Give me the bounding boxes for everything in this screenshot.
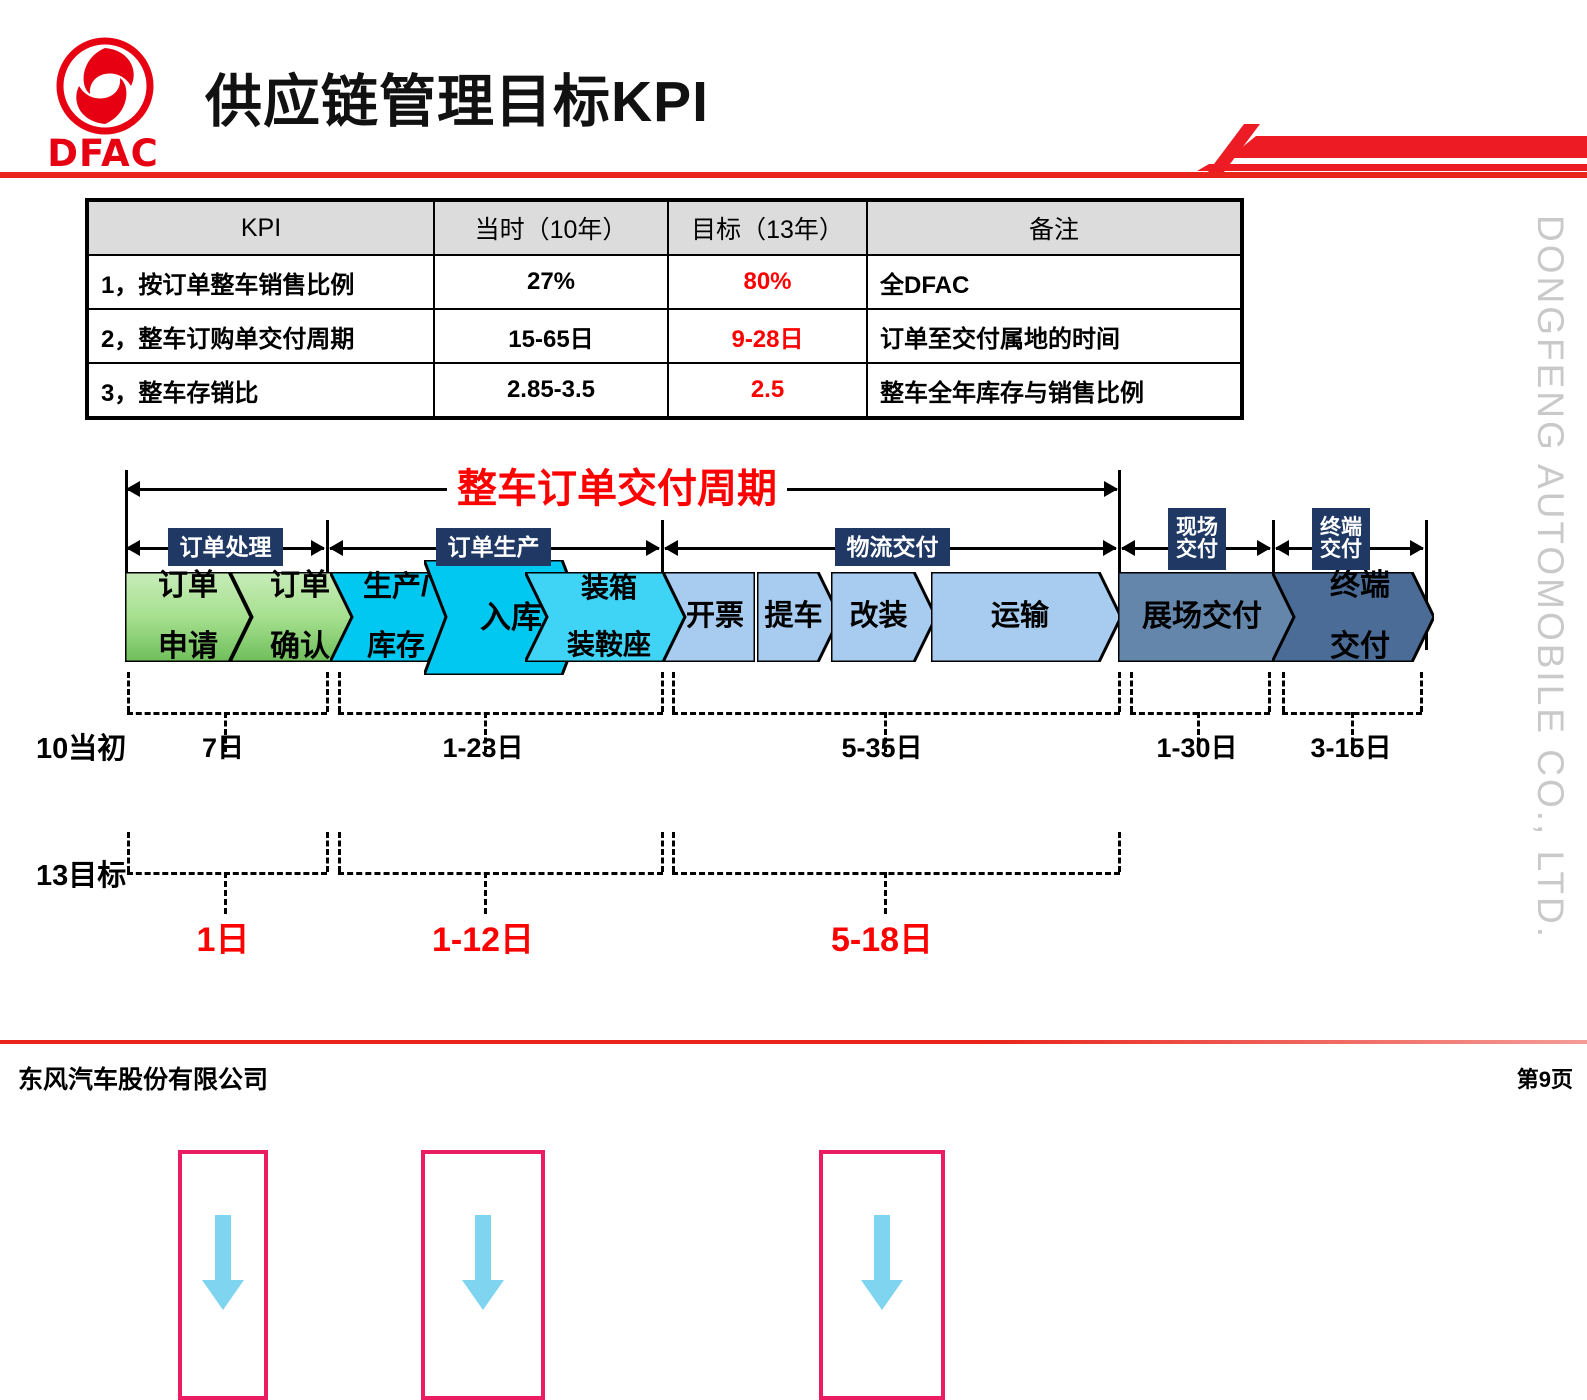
footer-company-name: 东风汽车股份有限公司 xyxy=(18,1060,268,1096)
step-showroom-delivery[interactable]: 展场交付 xyxy=(1118,572,1296,662)
brace-drop xyxy=(884,872,887,914)
table-row: 2，整车订购单交付周期 15-65日 9-28日 订单至交付属地的时间 xyxy=(87,309,1242,363)
cell-now: 27% xyxy=(434,255,668,309)
footer-divider xyxy=(0,1040,1587,1044)
brace-tick xyxy=(338,672,341,712)
step-packing-saddle[interactable]: 装箱 装鞍座 xyxy=(525,572,685,662)
improvement-arrow-icon xyxy=(202,1215,244,1310)
col-header-note: 备注 xyxy=(867,200,1242,255)
col-header-now: 当时（10年） xyxy=(434,200,668,255)
step-modification[interactable]: 改装 xyxy=(831,572,936,662)
phase-pill-terminal-delivery: 终端 交付 xyxy=(1312,508,1370,570)
step-label-line2: 申请 xyxy=(158,632,218,663)
phase-label: 订单生产 xyxy=(448,535,540,559)
cell-goal: 80% xyxy=(668,255,867,309)
header-swoosh-band xyxy=(1229,136,1587,158)
table-header-row: KPI 当时（10年） 目标（13年） 备注 xyxy=(87,200,1242,255)
target-value-order-production: 1-12日 xyxy=(421,912,545,961)
baseline-value-order-processing: 7日 xyxy=(178,726,268,765)
footer-page-number: 第9页 xyxy=(1517,1062,1573,1094)
header-swoosh-thin xyxy=(1197,164,1587,171)
step-label-line1: 订单 xyxy=(158,571,218,602)
brace-tick xyxy=(661,832,664,872)
step-label-line1: 提车 xyxy=(764,602,822,632)
brace-line xyxy=(338,712,663,715)
step-pickup[interactable]: 提车 xyxy=(757,572,840,662)
step-label-line1: 入库 xyxy=(480,602,542,634)
step-label-line1: 生产/ xyxy=(363,573,429,603)
step-label-line2: 确认 xyxy=(270,632,330,663)
page-title: 供应链管理目标KPI xyxy=(205,56,709,138)
step-label-line1: 装箱 xyxy=(567,574,651,603)
cell-goal: 2.5 xyxy=(668,363,867,418)
phase-pill-order-processing: 订单处理 xyxy=(168,528,283,566)
brace-line xyxy=(1130,712,1270,715)
phase-pill-order-production: 订单生产 xyxy=(436,528,551,566)
brace-line xyxy=(127,872,327,875)
phase-label-line2: 交付 xyxy=(1320,539,1362,561)
step-label-line1: 开票 xyxy=(686,602,744,632)
step-label-line1: 订单 xyxy=(270,571,330,602)
cell-now: 2.85-3.5 xyxy=(434,363,668,418)
cell-note: 全DFAC xyxy=(867,255,1242,309)
step-label-line1: 改装 xyxy=(849,602,907,632)
row-label-baseline: 10当初 xyxy=(36,725,126,767)
brace-tick xyxy=(326,672,329,712)
cell-note: 整车全年库存与销售比例 xyxy=(867,363,1242,418)
cell-kpi: 1，按订单整车销售比例 xyxy=(87,255,434,309)
phase-pill-logistics-delivery: 物流交付 xyxy=(835,528,950,566)
table-row: 1，按订单整车销售比例 27% 80% 全DFAC xyxy=(87,255,1242,309)
brace-tick xyxy=(661,672,664,712)
sidebar-vertical-brand-text: DONGFENG AUTOMOBILE CO., LTD. xyxy=(1521,215,1571,1005)
phase-pill-onsite-delivery: 现场 交付 xyxy=(1168,508,1226,570)
baseline-value-onsite-delivery: 1-30日 xyxy=(1134,726,1260,765)
phase-label-line2: 交付 xyxy=(1176,539,1218,561)
page-header: DFAC 供应链管理目标KPI xyxy=(0,0,1587,175)
improvement-arrow-icon xyxy=(462,1215,504,1310)
logo-wordmark: DFAC xyxy=(33,136,173,172)
phase-label: 物流交付 xyxy=(847,535,939,559)
dongfeng-emblem-icon xyxy=(55,36,155,136)
step-transport[interactable]: 运输 xyxy=(931,572,1121,662)
baseline-value-order-production: 1-23日 xyxy=(421,726,545,765)
step-label-line1: 展场交付 xyxy=(1142,602,1262,633)
step-label-line2: 库存 xyxy=(363,632,429,662)
brace-line xyxy=(127,712,327,715)
brace-tick xyxy=(1130,672,1133,712)
baseline-value-terminal-delivery: 3-15日 xyxy=(1288,726,1414,765)
brace-tick xyxy=(326,832,329,872)
step-label-line1: 运输 xyxy=(991,602,1049,632)
baseline-value-logistics-delivery: 5-35日 xyxy=(819,726,945,765)
brace-line xyxy=(672,872,1120,875)
col-header-kpi: KPI xyxy=(87,200,434,255)
col-header-goal: 目标（13年） xyxy=(668,200,867,255)
step-label-line2: 装鞍座 xyxy=(567,631,651,660)
brace-tick xyxy=(672,832,675,872)
kpi-table: KPI 当时（10年） 目标（13年） 备注 1，按订单整车销售比例 27% 8… xyxy=(85,198,1244,420)
brace-tick xyxy=(1420,672,1423,712)
cell-now: 15-65日 xyxy=(434,309,668,363)
brace-tick xyxy=(672,672,675,712)
table-row: 3，整车存销比 2.85-3.5 2.5 整车全年库存与销售比例 xyxy=(87,363,1242,418)
step-invoice[interactable]: 开票 xyxy=(663,572,755,662)
step-label-line1: 终端 xyxy=(1330,571,1390,602)
phase-label-line1: 终端 xyxy=(1320,517,1362,539)
brace-tick xyxy=(127,672,130,712)
improvement-arrow-icon xyxy=(861,1215,903,1310)
process-timeline-diagram: 整车订单交付周期 订单处理 订单生产 物流交付 现场 交付 终端 交付 订单 申… xyxy=(0,440,1587,1000)
cell-kpi: 3，整车存销比 xyxy=(87,363,434,418)
brace-drop xyxy=(484,872,487,914)
cell-kpi: 2，整车订购单交付周期 xyxy=(87,309,434,363)
cycle-title: 整车订单交付周期 xyxy=(447,456,787,514)
target-value-logistics-delivery: 5-18日 xyxy=(819,912,945,961)
row-label-target: 13目标 xyxy=(36,852,126,894)
dfac-logo: DFAC xyxy=(33,36,173,170)
step-terminal-delivery[interactable]: 终端 交付 xyxy=(1272,572,1434,662)
phase-label: 订单处理 xyxy=(180,535,272,559)
phase-label-line1: 现场 xyxy=(1176,517,1218,539)
brace-tick xyxy=(338,832,341,872)
brace-tick xyxy=(1118,672,1121,712)
brace-tick xyxy=(1268,672,1271,712)
cell-goal: 9-28日 xyxy=(668,309,867,363)
brace-line xyxy=(672,712,1120,715)
step-label-line2: 交付 xyxy=(1330,632,1390,663)
brace-tick xyxy=(1282,672,1285,712)
target-value-order-processing: 1日 xyxy=(178,912,268,961)
brace-drop xyxy=(224,872,227,914)
brace-tick xyxy=(1118,832,1121,872)
brace-line xyxy=(338,872,663,875)
brace-tick xyxy=(127,832,130,872)
cell-note: 订单至交付属地的时间 xyxy=(867,309,1242,363)
header-divider xyxy=(0,172,1587,178)
